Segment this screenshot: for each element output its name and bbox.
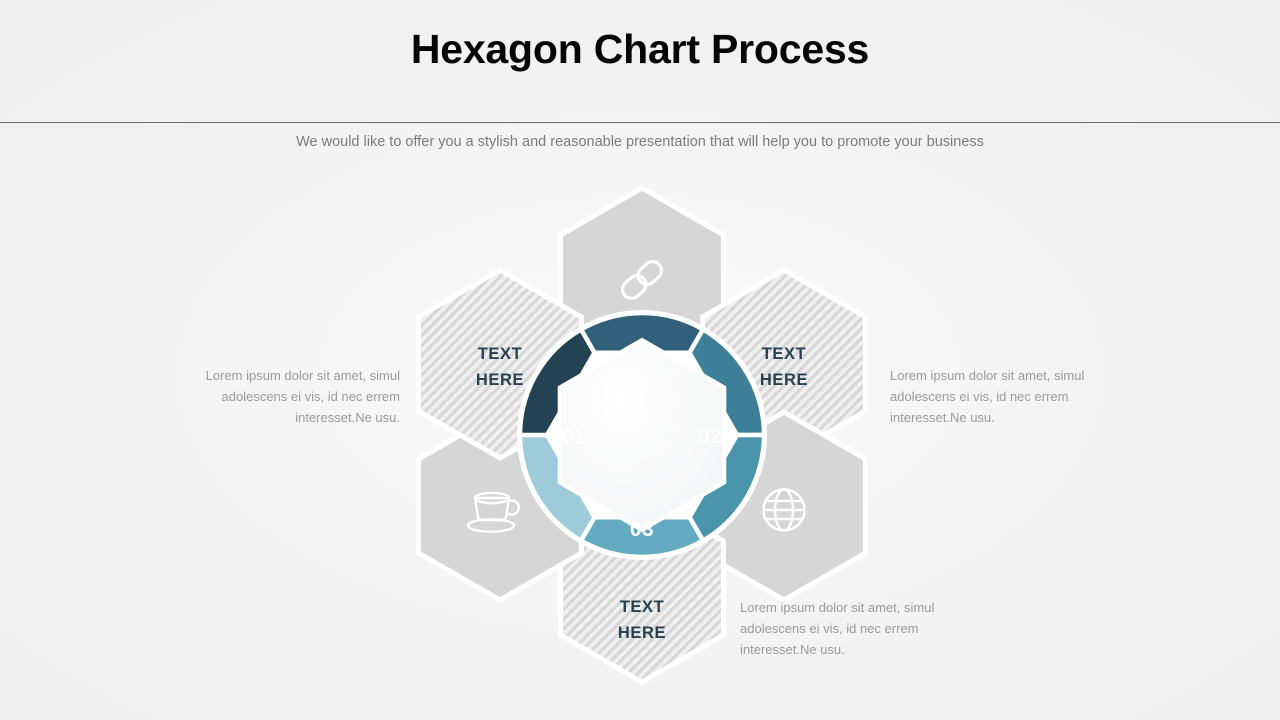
hexagon-bottom-label-line2: HERE — [618, 624, 666, 642]
hexagon-upper-left-label-line1: TEXT — [478, 345, 523, 363]
hexagon-upper-left-label-line2: HERE — [476, 371, 524, 389]
description-right: Lorem ipsum dolor sit amet, simul adoles… — [890, 365, 1130, 428]
ring-number-03: 03 — [630, 518, 654, 541]
description-left: Lorem ipsum dolor sit amet, simul adoles… — [160, 365, 400, 428]
page-title: Hexagon Chart Process — [0, 26, 1280, 73]
center-ring: 01 02 03 — [517, 310, 767, 560]
hexagon-process-diagram: TEXT HERE TEXT HERE — [402, 182, 882, 672]
hexagon-upper-right-label-line2: HERE — [760, 371, 808, 389]
title-divider — [0, 122, 1280, 123]
ring-number-01: 01 — [562, 425, 586, 448]
hexagon-upper-right-label-line1: TEXT — [762, 345, 807, 363]
ring-number-02: 02 — [698, 425, 722, 448]
hexagon-bottom-label-line1: TEXT — [620, 598, 665, 616]
diagram-stage: Lorem ipsum dolor sit amet, simul adoles… — [0, 160, 1280, 720]
page-subtitle: We would like to offer you a stylish and… — [0, 132, 1280, 152]
